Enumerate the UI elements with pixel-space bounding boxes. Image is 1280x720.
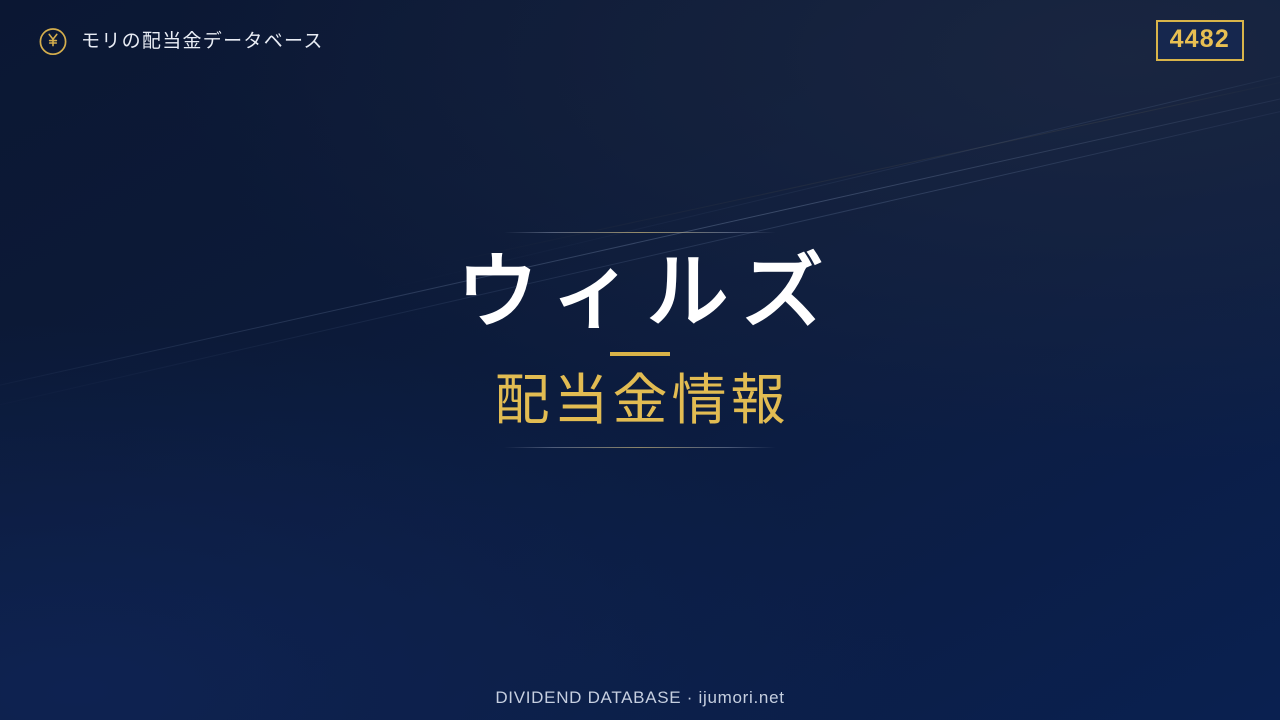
brand[interactable]: モリの配当金データベース (38, 26, 324, 56)
company-name-title: ウィルズ (443, 249, 836, 338)
footer-caption: DIVIDEND DATABASE · ijumori.net (0, 688, 1280, 708)
ticker-code-badge: 4482 (1156, 20, 1244, 61)
hero-section: ウィルズ 配当金情報 (0, 232, 1280, 448)
yen-circle-icon (38, 26, 68, 56)
site-title: モリの配当金データベース (81, 32, 324, 51)
hero-top-rule (504, 232, 776, 233)
hero-bottom-rule (504, 447, 776, 448)
gold-divider (610, 352, 670, 356)
header-bar: モリの配当金データベース 4482 (0, 0, 1280, 90)
page-subtitle: 配当金情報 (490, 370, 789, 432)
title-slide: モリの配当金データベース 4482 ウィルズ 配当金情報 DIVIDEND DA… (0, 0, 1280, 720)
